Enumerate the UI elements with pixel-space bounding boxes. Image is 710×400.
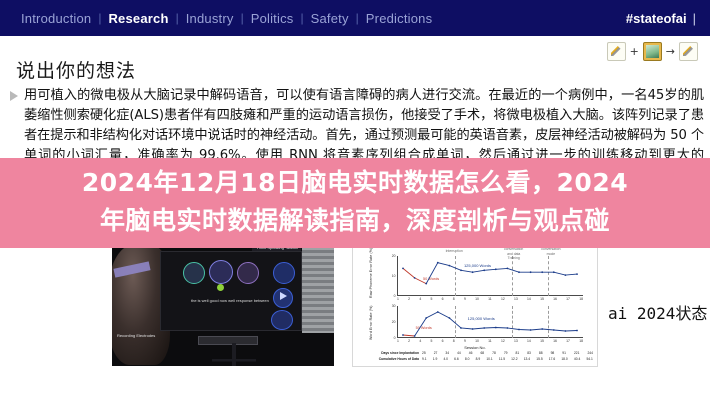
- pencil-icon[interactable]: [607, 42, 626, 61]
- data-point: [483, 269, 485, 271]
- table-cell: 79: [504, 351, 508, 355]
- x-tick: 4: [419, 297, 421, 301]
- table-cell: 8.9: [476, 357, 481, 361]
- photo-monitor: the is well good now well response betwe…: [160, 251, 302, 331]
- table-cell: 10.1: [486, 357, 492, 361]
- photo-screen-sentence: the is well good now well response betwe…: [191, 298, 269, 303]
- y-tick: 10: [392, 274, 396, 278]
- table-cell: 34: [445, 351, 449, 355]
- photo-caption: Recording Electrodes: [117, 333, 155, 339]
- table-cell: 27: [434, 351, 438, 355]
- data-point: [507, 268, 509, 270]
- data-point: [553, 329, 555, 331]
- table-cell: 18.0: [561, 357, 567, 361]
- data-point: [518, 271, 520, 273]
- data-point: [460, 327, 462, 329]
- x-tick: 5: [430, 339, 432, 343]
- table-cell: 8.0: [465, 357, 470, 361]
- x-tick: 10: [475, 297, 479, 301]
- data-point: [483, 327, 485, 329]
- chart-data-table: Days since Implantation 2527344446687879…: [357, 351, 593, 362]
- data-point: [472, 271, 474, 273]
- data-point: [495, 268, 497, 270]
- ui-node: [183, 262, 205, 284]
- plus-sign-icon: +: [630, 46, 639, 57]
- chart-series-1: [397, 256, 583, 296]
- y-tick: 30: [392, 304, 396, 308]
- table-cell: 4.0: [443, 357, 448, 361]
- table-cell: 68: [480, 351, 484, 355]
- table-cell: 1.9: [433, 357, 438, 361]
- table-cell: 54.1: [586, 357, 592, 361]
- x-tick: 18: [579, 297, 583, 301]
- banner-overlay: 2024年12月18日脑电实时数据怎么看，2024 年脑电实时数据解读指南，深度…: [0, 158, 710, 248]
- data-point: [425, 283, 427, 285]
- x-tick: 14: [527, 297, 531, 301]
- data-point: [472, 328, 474, 330]
- y-tick: 20: [392, 254, 396, 258]
- chart-ylabel-2: Word Error Rate (%): [369, 305, 373, 340]
- table-row-label: Cumulative Hours of Data: [357, 357, 422, 361]
- x-tick: 17: [566, 297, 570, 301]
- hashtag-group: #stateofai |: [626, 11, 696, 26]
- table-cell: 91: [562, 351, 566, 355]
- data-point: [518, 329, 520, 331]
- nav-item-industry[interactable]: Industry: [179, 11, 241, 26]
- y-tick: 0: [394, 294, 396, 298]
- table-row-values: 9.11.94.06.68.08.910.111.512.213.415.517…: [422, 357, 593, 361]
- pencil-icon-2[interactable]: [679, 42, 698, 61]
- ui-node: [237, 262, 259, 284]
- data-point: [576, 273, 578, 275]
- data-point: [541, 328, 543, 330]
- x-tick: 2: [408, 297, 410, 301]
- chart-ylabel-1: Raw Phoneme Error Rate (%): [369, 248, 373, 298]
- chart-series-2: [397, 306, 583, 338]
- data-point: [530, 271, 532, 273]
- x-tick: 13: [514, 297, 518, 301]
- arrow-right-icon: →: [666, 46, 675, 57]
- table-cell: 12.2: [511, 357, 517, 361]
- table-cell: 44: [457, 351, 461, 355]
- x-tick: 14: [527, 339, 531, 343]
- x-tick: 16: [553, 297, 557, 301]
- nav-item-safety[interactable]: Safety: [304, 11, 356, 26]
- page-title: 说出你的想法: [16, 56, 136, 83]
- table-cell: 40.4: [574, 357, 580, 361]
- x-tick: 15: [540, 297, 544, 301]
- ui-node: [271, 310, 293, 330]
- nav-items: Introduction | Research | Industry | Pol…: [14, 11, 626, 26]
- icon-toolbar: + →: [607, 42, 698, 61]
- data-point: [576, 330, 578, 332]
- table-cell: 78: [492, 351, 496, 355]
- table-row: Cumulative Hours of Data 9.11.94.06.68.0…: [357, 357, 593, 361]
- data-point: [460, 269, 462, 271]
- ui-node: [273, 262, 295, 284]
- data-point: [414, 277, 416, 279]
- table-cell: 244: [587, 351, 593, 355]
- table-row-label: Days since Implantation: [357, 351, 422, 355]
- table-cell: 25: [422, 351, 426, 355]
- triangle-bullet-icon: [10, 91, 18, 101]
- table-cell: 9.1: [422, 357, 427, 361]
- data-point: [553, 271, 555, 273]
- data-point: [425, 317, 427, 319]
- nav-item-predictions[interactable]: Predictions: [359, 11, 440, 26]
- x-tick: 6: [442, 339, 444, 343]
- table-cell: 15.5: [536, 357, 542, 361]
- x-tick: 5: [430, 297, 432, 301]
- data-point: [495, 327, 497, 329]
- x-tick: 4: [419, 339, 421, 343]
- chart-xlabel: Session No.: [353, 345, 597, 350]
- image-icon[interactable]: [643, 42, 662, 61]
- data-point: [541, 271, 543, 273]
- table-row-values: 25273444466878798183889891221244: [422, 351, 593, 355]
- table-cell: 13.4: [524, 357, 530, 361]
- chart-subplot-1: 20 10 0 Session Interruption Mixed conve…: [397, 256, 583, 296]
- data-point: [402, 334, 404, 336]
- top-navbar: Introduction | Research | Industry | Pol…: [0, 0, 710, 36]
- play-icon: [280, 292, 287, 300]
- banner-title: 2024年12月18日脑电实时数据怎么看，2024 年脑电实时数据解读指南，深度…: [0, 158, 710, 240]
- chart-subplot-2: 30 20 0 50 Words 125,000 Words: [397, 306, 583, 338]
- side-caption: ai 2024状态: [608, 300, 707, 324]
- x-tick: 8: [453, 297, 455, 301]
- data-point: [449, 265, 451, 267]
- x-tick: 15: [540, 339, 544, 343]
- table-cell: 11.5: [499, 357, 505, 361]
- photo-window-blinds: [302, 247, 334, 333]
- x-tick: 10: [475, 339, 479, 343]
- nav-item-introduction[interactable]: Introduction: [14, 11, 98, 26]
- table-cell: 83: [527, 351, 531, 355]
- chart-xticks-2: 1245689101112131415161718: [397, 339, 583, 343]
- x-tick: 11: [488, 297, 492, 301]
- results-chart: Raw Phoneme Error Rate (%) 20 10 0 Sessi…: [352, 243, 598, 367]
- x-tick: 12: [501, 339, 505, 343]
- x-tick: 6: [442, 297, 444, 301]
- status-dot: [217, 284, 224, 291]
- research-photo: the is well good now well response betwe…: [112, 243, 334, 366]
- data-point: [437, 311, 439, 313]
- x-tick: 1: [397, 339, 399, 343]
- data-point: [402, 268, 404, 270]
- x-tick: 9: [464, 297, 466, 301]
- chart-xticks-1: 1245689101112131415161718: [397, 297, 583, 301]
- x-tick: 1: [397, 297, 399, 301]
- y-tick: 0: [394, 336, 396, 340]
- nav-trailing-bar: |: [693, 11, 696, 26]
- nav-item-research[interactable]: Research: [101, 11, 175, 26]
- data-point: [565, 274, 567, 276]
- table-cell: 81: [516, 351, 520, 355]
- nav-item-politics[interactable]: Politics: [244, 11, 301, 26]
- photo-tripod: [212, 343, 256, 366]
- x-tick: 11: [488, 339, 492, 343]
- data-point: [565, 330, 567, 332]
- hashtag-stateofai: #stateofai: [626, 11, 687, 26]
- table-row: Days since Implantation 2527344446687879…: [357, 351, 593, 355]
- table-cell: 98: [551, 351, 555, 355]
- table-cell: 221: [574, 351, 580, 355]
- x-tick: 2: [408, 339, 410, 343]
- x-tick: 8: [453, 339, 455, 343]
- y-tick: 20: [392, 320, 396, 324]
- table-cell: 6.6: [454, 357, 459, 361]
- data-point: [507, 327, 509, 329]
- x-tick: 17: [566, 339, 570, 343]
- table-cell: 17.6: [549, 357, 555, 361]
- data-point: [437, 262, 439, 264]
- table-cell: 88: [539, 351, 543, 355]
- data-point: [530, 329, 532, 331]
- x-tick: 13: [514, 339, 518, 343]
- x-tick: 18: [579, 339, 583, 343]
- table-cell: 46: [469, 351, 473, 355]
- data-point: [449, 317, 451, 319]
- ui-node: [209, 260, 233, 284]
- data-point: [414, 335, 416, 337]
- x-tick: 16: [553, 339, 557, 343]
- x-tick: 12: [501, 297, 505, 301]
- x-tick: 9: [464, 339, 466, 343]
